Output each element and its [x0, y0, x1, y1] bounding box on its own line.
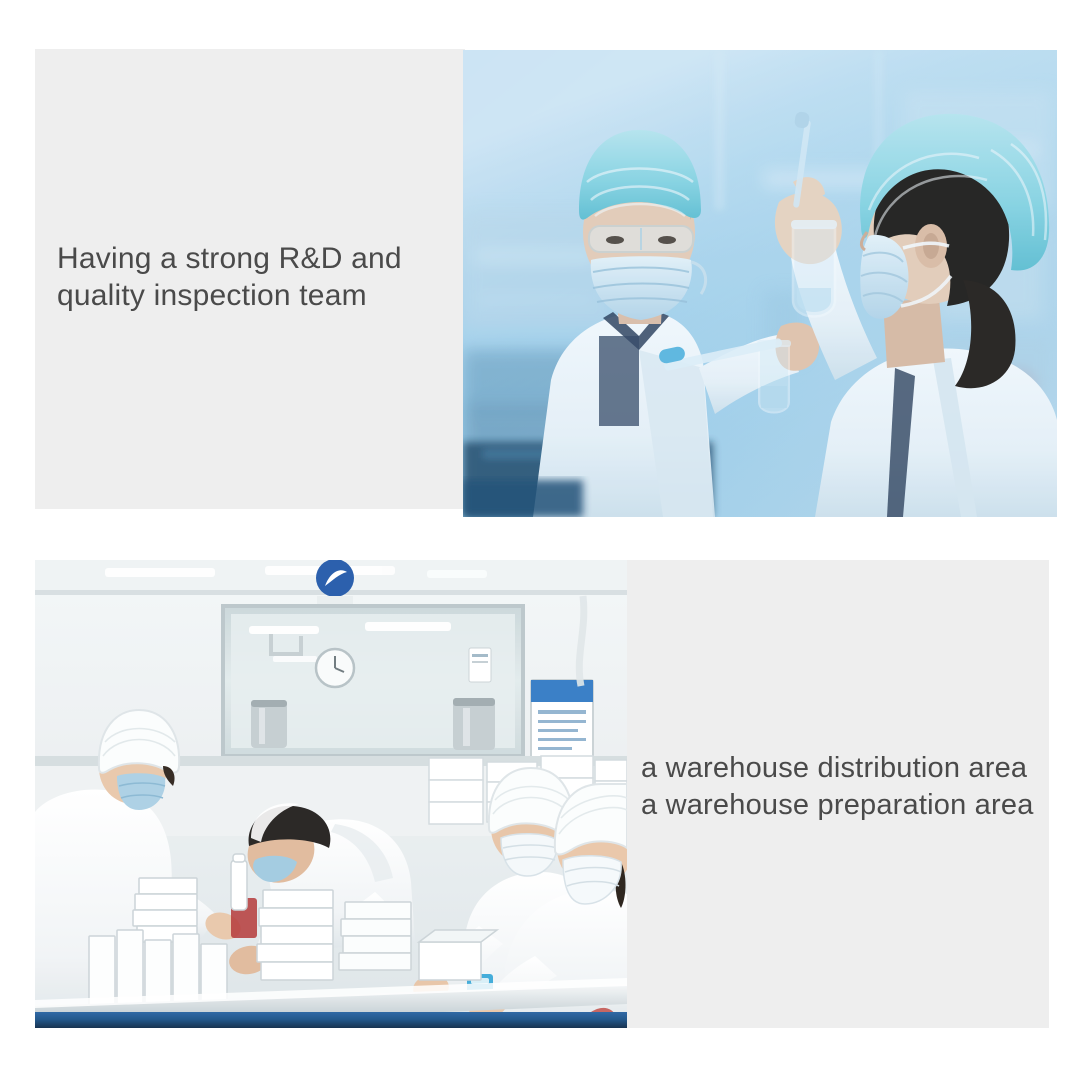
lab-technicians-photo	[463, 50, 1057, 517]
warehouse-packing-photo	[35, 560, 627, 1028]
warehouse-packing-illustration	[35, 560, 627, 1028]
caption-text-rd-quality-inspection: Having a strong R&D and quality inspecti…	[57, 240, 457, 314]
page-root: Having a strong R&D and quality inspecti…	[0, 0, 1080, 1080]
section-rd-quality-inspection: Having a strong R&D and quality inspecti…	[35, 49, 1057, 517]
section-warehouse-areas: a warehouse distribution area a warehous…	[35, 560, 1049, 1028]
caption-text-warehouse-areas: a warehouse distribution area a warehous…	[641, 750, 1061, 824]
lab-technicians-illustration	[463, 50, 1057, 517]
